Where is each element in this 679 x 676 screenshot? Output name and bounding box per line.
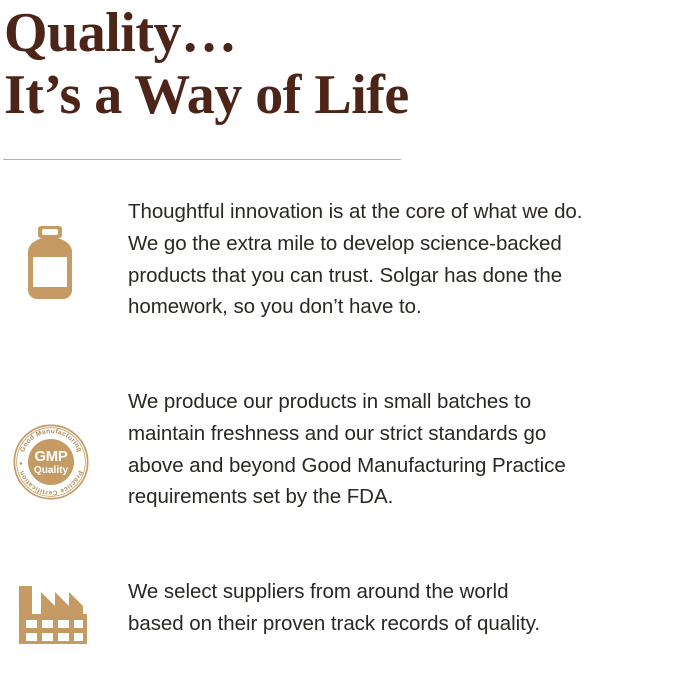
page-title-line-2: It’s a Way of Life	[4, 64, 644, 126]
feature-list: Thoughtful innovation is at the core of …	[0, 196, 679, 676]
quality-promise-page: Quality… It’s a Way of Life Thoughtful	[0, 0, 679, 663]
feature-paragraph: Thoughtful innovation is at the core of …	[128, 196, 679, 323]
title-divider	[3, 159, 401, 160]
feature-text-line: maintain freshness and our strict standa…	[128, 418, 679, 450]
feature-text-line: We select suppliers from around the worl…	[128, 576, 679, 608]
feature-text-line: above and beyond Good Manufacturing Prac…	[128, 450, 679, 482]
feature-paragraph: We produce our products in small batches…	[128, 386, 679, 513]
factory-icon	[17, 584, 89, 651]
feature-icon-cell: Good Manufacturing Practice Certificatio…	[0, 386, 128, 501]
gmp-quality-seal-icon: Good Manufacturing Practice Certificatio…	[12, 423, 90, 501]
feature-text-line: based on their proven track records of q…	[128, 608, 679, 640]
feature-item-suppliers: We select suppliers from around the worl…	[0, 576, 679, 676]
feature-icon-cell	[0, 196, 128, 305]
feature-text-line: We go the extra mile to develop science-…	[128, 228, 679, 260]
gmp-seal-center-primary: GMP	[34, 449, 67, 465]
feature-item-gmp: Good Manufacturing Practice Certificatio…	[0, 386, 679, 576]
feature-text-cell: We select suppliers from around the worl…	[128, 576, 679, 640]
gmp-seal-center-secondary: Quality	[34, 465, 69, 476]
feature-text-line: Thoughtful innovation is at the core of …	[128, 196, 679, 228]
feature-text-line: requirements set by the FDA.	[128, 481, 679, 513]
feature-text-line: We produce our products in small batches…	[128, 386, 679, 418]
feature-item-innovation: Thoughtful innovation is at the core of …	[0, 196, 679, 386]
page-title-block: Quality… It’s a Way of Life	[4, 4, 644, 126]
feature-icon-cell	[0, 576, 128, 651]
feature-text-line: products that you can trust. Solgar has …	[128, 260, 679, 292]
feature-text-cell: We produce our products in small batches…	[128, 386, 679, 513]
feature-text-cell: Thoughtful innovation is at the core of …	[128, 196, 679, 323]
page-title-line-1: Quality…	[4, 4, 644, 62]
supplement-bottle-icon	[20, 226, 80, 305]
feature-paragraph: We select suppliers from around the worl…	[128, 576, 679, 640]
feature-text-line: homework, so you don’t have to.	[128, 291, 679, 323]
